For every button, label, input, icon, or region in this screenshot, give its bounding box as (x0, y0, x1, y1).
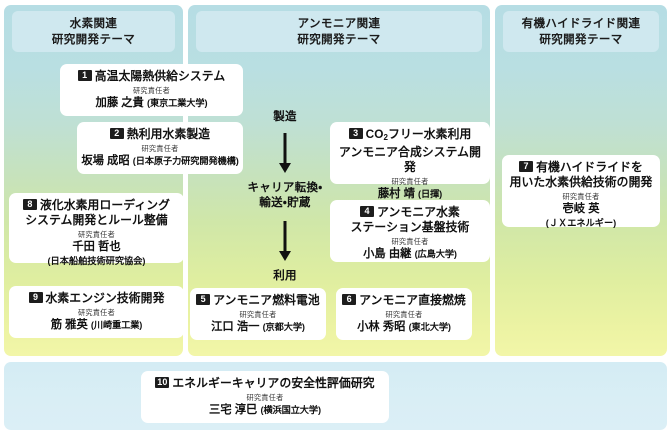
theme-card-10[interactable]: 10エネルギーキャリアの安全性評価研究 研究責任者 三宅 淳巳 (横浜国立大学) (141, 371, 389, 423)
column-header-organic-hydride-line2: 研究開発テーマ (539, 32, 622, 48)
theme-card-3-title-line1-pre: CO (366, 127, 384, 141)
theme-card-7-person-name: 壱岐 英 (506, 202, 656, 217)
theme-card-2-role: 研究責任者 (81, 143, 239, 154)
theme-card-8-number: 8 (23, 199, 37, 210)
theme-card-7-number: 7 (519, 161, 533, 172)
theme-card-5-role: 研究責任者 (194, 309, 322, 320)
theme-card-5-number: 5 (196, 294, 210, 305)
theme-card-10-role: 研究責任者 (145, 392, 385, 403)
theme-card-4-role: 研究責任者 (334, 236, 486, 247)
column-header-ammonia-line1: アンモニア関連 (298, 16, 381, 32)
theme-card-8[interactable]: 8液化水素用ローディング システム開発とルール整備 研究責任者 千田 哲也 (日… (9, 193, 184, 263)
column-header-hydrogen-line2: 研究開発テーマ (52, 32, 135, 48)
theme-card-5-affiliation: (京都大学) (263, 322, 305, 332)
theme-card-9-title-text: 水素エンジン技術開発 (46, 291, 165, 305)
theme-card-6-person-name: 小林 秀昭 (357, 321, 405, 333)
flow-arrow-down-icon (279, 133, 291, 173)
theme-card-3-title-line2: アンモニア合成システム開発 (339, 145, 481, 174)
theme-card-4-number: 4 (360, 206, 374, 217)
theme-card-7-title-line2-wrap: 用いた水素供給技術の開発 (506, 175, 656, 190)
theme-card-2-person-name: 坂場 成昭 (81, 155, 129, 167)
theme-card-1-person: 加藤 之貴 (東京工業大学) (64, 96, 239, 111)
theme-card-6-affiliation: (東北大学) (409, 322, 451, 332)
theme-card-1-role: 研究責任者 (64, 85, 239, 96)
theme-card-4-person: 小島 由継 (広島大学) (334, 247, 486, 262)
theme-card-5-title-text: アンモニア燃料電池 (213, 293, 320, 307)
theme-card-4-title: 4アンモニア水素 (334, 205, 486, 220)
theme-card-2-title-text: 熱利用水素製造 (127, 127, 210, 141)
theme-card-6-role: 研究責任者 (340, 309, 468, 320)
theme-card-3-role: 研究責任者 (334, 176, 486, 187)
theme-card-7-title-line2: 用いた水素供給技術の開発 (510, 175, 653, 189)
theme-card-3-number: 3 (349, 128, 363, 139)
theme-card-5-person: 江口 浩一 (京都大学) (194, 320, 322, 335)
theme-card-5-person-name: 江口 浩一 (211, 321, 259, 333)
theme-card-1-number: 1 (78, 70, 92, 81)
theme-card-5-title: 5アンモニア燃料電池 (194, 293, 322, 308)
theme-card-1-person-name: 加藤 之貴 (96, 97, 144, 109)
theme-card-10-affiliation: (横浜国立大学) (261, 405, 321, 415)
theme-card-9-number: 9 (29, 292, 43, 303)
theme-card-9-affiliation: (川崎重工業) (91, 320, 142, 330)
theme-card-1[interactable]: 1高温太陽熱供給システム 研究責任者 加藤 之貴 (東京工業大学) (60, 64, 243, 116)
flow-step-manufacture: 製造 (273, 110, 297, 125)
theme-card-2-title: 2熱利用水素製造 (81, 127, 239, 142)
theme-card-3-affiliation: (日揮) (418, 189, 442, 199)
theme-card-9-title: 9水素エンジン技術開発 (13, 291, 180, 306)
theme-card-9-person-name: 筋 雅英 (51, 319, 88, 331)
diagram-canvas: 水素関連 研究開発テーマ アンモニア関連 研究開発テーマ 有機ハイドライド関連 … (0, 0, 671, 434)
theme-card-8-title-line1: 液化水素用ローディング (40, 198, 170, 212)
theme-card-9-role: 研究責任者 (13, 307, 180, 318)
theme-card-10-number: 10 (155, 377, 169, 388)
theme-card-7[interactable]: 7有機ハイドライドを 用いた水素供給技術の開発 研究責任者 壱岐 英 (ＪＸエネ… (502, 155, 660, 227)
theme-card-10-title: 10エネルギーキャリアの安全性評価研究 (145, 376, 385, 391)
theme-card-4-title-line2-wrap: ステーション基盤技術 (334, 220, 486, 235)
theme-card-4[interactable]: 4アンモニア水素 ステーション基盤技術 研究責任者 小島 由継 (広島大学) (330, 200, 490, 262)
theme-card-8-title-line2-wrap: システム開発とルール整備 (13, 213, 180, 228)
theme-card-1-affiliation: (東京工業大学) (147, 98, 207, 108)
theme-card-6[interactable]: 6アンモニア直接燃焼 研究責任者 小林 秀昭 (東北大学) (336, 288, 472, 340)
column-header-organic-hydride: 有機ハイドライド関連 研究開発テーマ (503, 11, 659, 52)
theme-card-3-title-line2-wrap: アンモニア合成システム開発 (334, 145, 486, 175)
theme-card-4-title-line1: アンモニア水素 (377, 205, 460, 219)
theme-card-7-title: 7有機ハイドライドを (506, 160, 656, 175)
theme-card-6-title-text: アンモニア直接燃焼 (359, 293, 466, 307)
theme-card-4-person-name: 小島 由継 (363, 248, 411, 260)
theme-card-6-title: 6アンモニア直接燃焼 (340, 293, 468, 308)
column-header-hydrogen: 水素関連 研究開発テーマ (12, 11, 175, 52)
theme-card-8-affiliation: (日本船舶技術研究協会) (13, 255, 180, 267)
theme-card-8-title-line2: システム開発とルール整備 (25, 213, 167, 227)
theme-card-9-person: 筋 雅英 (川崎重工業) (13, 318, 180, 333)
theme-card-10-title-text: エネルギーキャリアの安全性評価研究 (172, 376, 374, 390)
theme-card-1-title: 1高温太陽熱供給システム (64, 69, 239, 84)
theme-card-6-person: 小林 秀昭 (東北大学) (340, 320, 468, 335)
theme-card-3-title-line1-post: フリー水素利用 (388, 127, 471, 141)
theme-card-8-role: 研究責任者 (13, 229, 180, 240)
column-header-ammonia-line2: 研究開発テーマ (297, 32, 380, 48)
theme-card-2-person: 坂場 成昭 (日本原子力研究開発機構) (81, 154, 239, 169)
theme-card-5[interactable]: 5アンモニア燃料電池 研究責任者 江口 浩一 (京都大学) (190, 288, 326, 340)
theme-card-2-affiliation: (日本原子力研究開発機構) (133, 156, 239, 166)
theme-card-3-person-name: 藤村 靖 (378, 188, 415, 200)
process-flow-chain: 製造 キャリア転換・ 輸送・貯蔵 利用 (232, 110, 338, 290)
theme-card-7-title-line1: 有機ハイドライドを (536, 160, 643, 174)
theme-card-4-affiliation: (広島大学) (415, 249, 457, 259)
theme-card-8-title: 8液化水素用ローディング (13, 198, 180, 213)
theme-card-7-role: 研究責任者 (506, 191, 656, 202)
theme-card-2[interactable]: 2熱利用水素製造 研究責任者 坂場 成昭 (日本原子力研究開発機構) (77, 122, 243, 174)
theme-card-7-affiliation: (ＪＸエネルギー) (506, 217, 656, 229)
flow-step-carrier-conversion-line2: 輸送・貯蔵 (259, 196, 310, 211)
flow-arrow-down-icon-2 (279, 221, 291, 261)
theme-card-4-title-line2: ステーション基盤技術 (351, 220, 470, 234)
column-header-ammonia: アンモニア関連 研究開発テーマ (196, 11, 482, 52)
theme-card-10-person-name: 三宅 淳巳 (209, 404, 257, 416)
theme-card-10-person: 三宅 淳巳 (横浜国立大学) (145, 403, 385, 418)
theme-card-9[interactable]: 9水素エンジン技術開発 研究責任者 筋 雅英 (川崎重工業) (9, 286, 184, 338)
theme-card-2-number: 2 (110, 128, 124, 139)
flow-step-utilization: 利用 (273, 269, 297, 284)
theme-card-1-title-text: 高温太陽熱供給システム (95, 69, 226, 83)
column-header-organic-hydride-line1: 有機ハイドライド関連 (522, 16, 641, 32)
theme-card-6-number: 6 (342, 294, 356, 305)
theme-card-8-person-name: 千田 哲也 (13, 240, 180, 255)
column-header-hydrogen-line1: 水素関連 (70, 16, 118, 32)
flow-step-carrier-conversion-line1: キャリア転換・ (247, 181, 322, 196)
theme-card-3[interactable]: 3CO2フリー水素利用 アンモニア合成システム開発 研究責任者 藤村 靖 (日揮… (330, 122, 490, 184)
theme-card-3-title: 3CO2フリー水素利用 (334, 127, 486, 145)
